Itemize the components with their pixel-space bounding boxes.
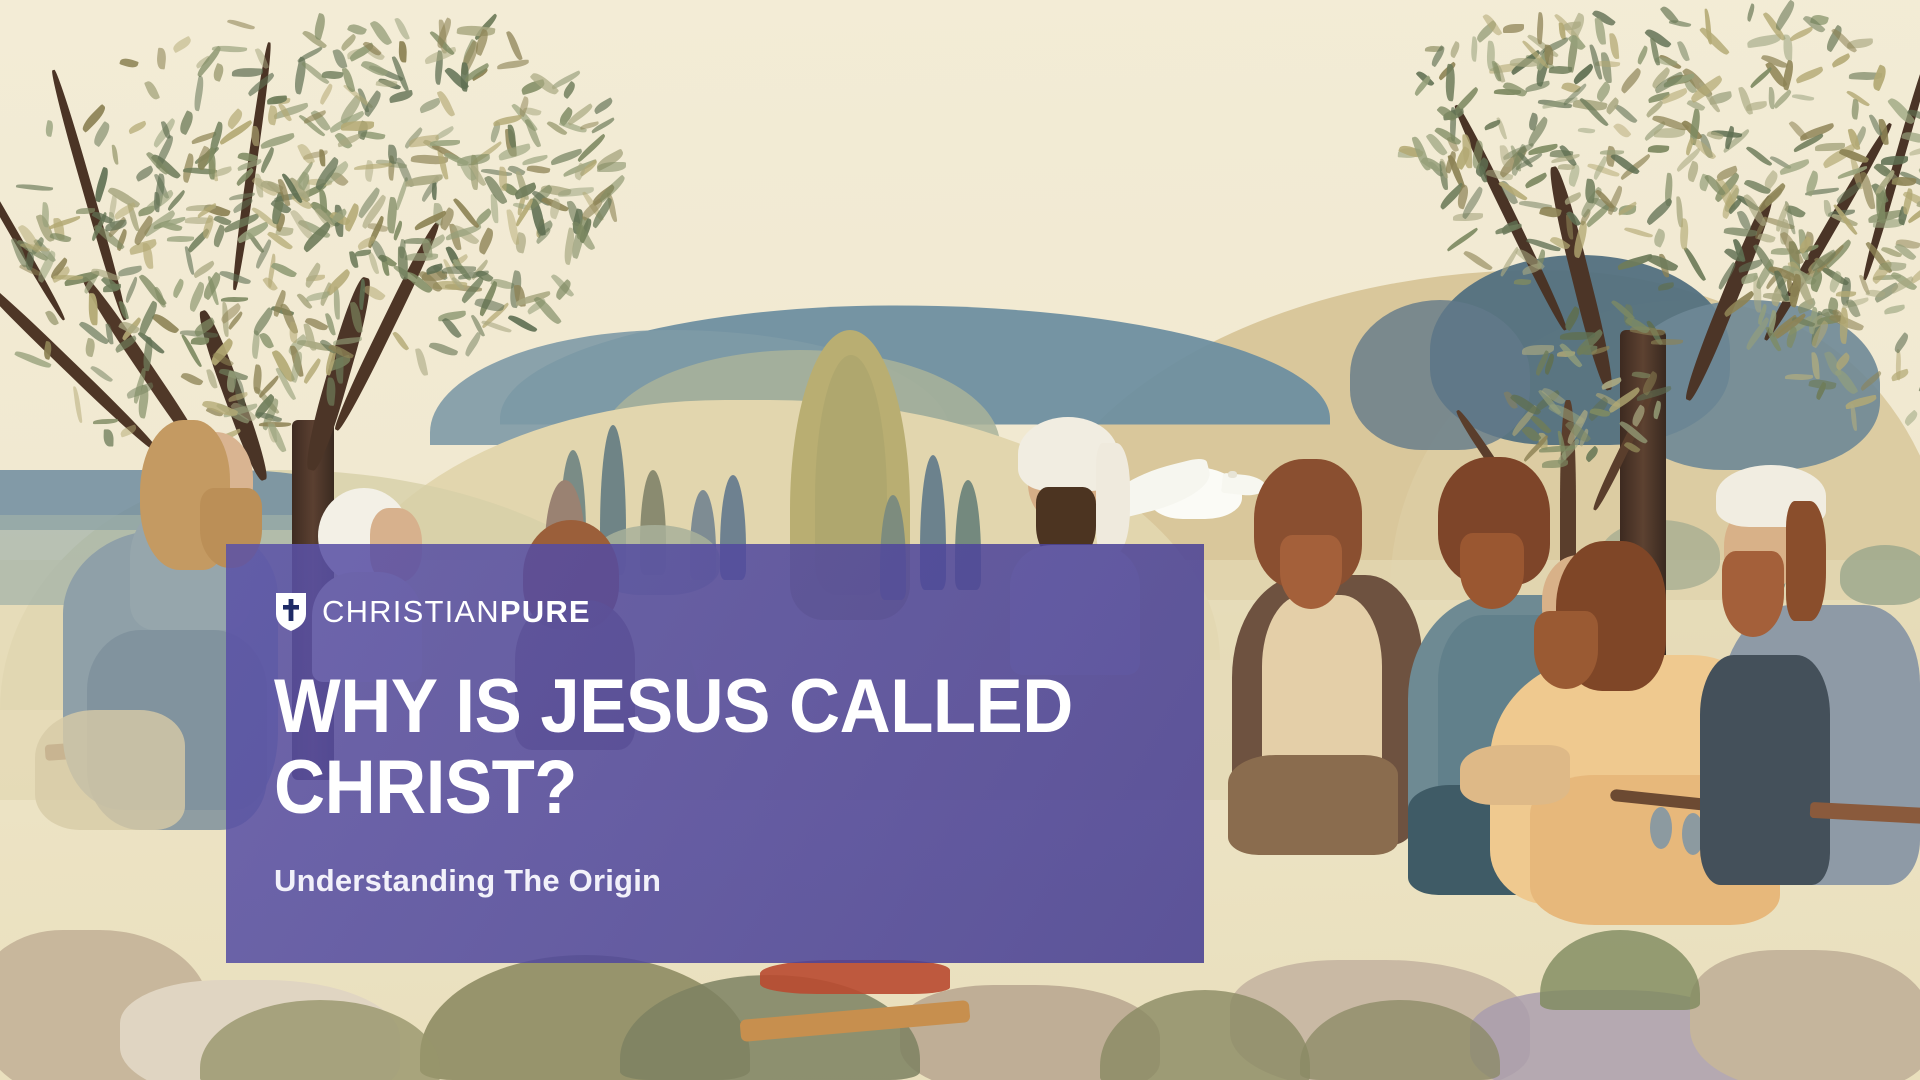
olive-leaf bbox=[333, 48, 348, 70]
canopy-blue bbox=[1350, 300, 1530, 450]
brand-wordmark: CHRISTIANPURE bbox=[322, 596, 591, 627]
olive-leaf bbox=[428, 339, 457, 358]
olive-leaf bbox=[481, 319, 511, 335]
olive-leaf bbox=[44, 119, 54, 136]
olive-leaf bbox=[1612, 121, 1631, 141]
olive-leaf bbox=[92, 167, 110, 202]
olive-leaf bbox=[49, 231, 71, 244]
olive-leaf bbox=[527, 163, 551, 174]
olive-leaf bbox=[1746, 144, 1773, 168]
olive-leaf bbox=[506, 30, 523, 61]
olive-leaf bbox=[1593, 82, 1612, 103]
title-overlay-card: CHRISTIANPURE Why Is Jesus Called Christ… bbox=[226, 544, 1204, 963]
olive-leaf bbox=[134, 165, 155, 182]
olive-leaf bbox=[398, 246, 408, 279]
olive-leaf bbox=[497, 59, 530, 70]
olive-leaf bbox=[318, 83, 335, 105]
poster-canvas: CHRISTIANPURE Why Is Jesus Called Christ… bbox=[0, 0, 1920, 1080]
olive-leaf bbox=[15, 183, 53, 193]
brand-logo[interactable]: CHRISTIANPURE bbox=[274, 590, 1204, 632]
olive-leaf bbox=[88, 293, 97, 325]
figure-right-4-seated bbox=[1690, 455, 1920, 895]
olive-leaf bbox=[306, 291, 330, 301]
olive-leaf bbox=[112, 145, 119, 165]
page-title: Why Is Jesus Called Christ? bbox=[274, 666, 1092, 829]
olive-leaf bbox=[1643, 198, 1675, 226]
olive-leaf bbox=[1749, 66, 1774, 88]
olive-leaf bbox=[1624, 226, 1653, 240]
olive-leaf bbox=[1677, 40, 1690, 62]
olive-leaf bbox=[1448, 41, 1462, 59]
olive-leaf bbox=[418, 97, 442, 113]
olive-leaf bbox=[498, 167, 507, 191]
brand-part-2: PURE bbox=[500, 594, 591, 629]
olive-leaf bbox=[1699, 24, 1730, 57]
olive-leaf bbox=[1772, 89, 1793, 109]
olive-leaf bbox=[1577, 126, 1594, 134]
olive-leaf bbox=[124, 276, 140, 303]
olive-leaf bbox=[259, 147, 277, 174]
olive-leaf bbox=[167, 235, 194, 242]
olive-leaf bbox=[260, 133, 296, 149]
olive-leaf bbox=[1647, 144, 1669, 154]
olive-leaf bbox=[1679, 219, 1690, 250]
olive-leaf bbox=[193, 76, 206, 112]
olive-leaf bbox=[462, 332, 482, 357]
olive-leaf bbox=[250, 307, 275, 336]
olive-leaf bbox=[398, 41, 407, 62]
olive-leaf bbox=[1746, 3, 1757, 22]
olive-leaf bbox=[592, 97, 614, 114]
olive-leaf bbox=[453, 196, 479, 229]
olive-leaf bbox=[1870, 65, 1889, 92]
olive-leaf bbox=[1523, 172, 1548, 188]
olive-leaf bbox=[84, 337, 97, 357]
olive-leaf bbox=[312, 13, 328, 40]
olive-leaf bbox=[171, 278, 186, 298]
olive-leaf bbox=[118, 301, 129, 321]
olive-leaf bbox=[251, 364, 263, 394]
olive-leaf bbox=[1772, 0, 1797, 31]
olive-leaf bbox=[144, 80, 160, 102]
olive-leaf bbox=[301, 357, 322, 383]
olive-leaf bbox=[171, 36, 193, 53]
olive-leaf bbox=[271, 260, 297, 280]
olive-leaf bbox=[415, 347, 428, 376]
olive-leaf bbox=[1823, 200, 1831, 217]
olive-leaf bbox=[360, 58, 388, 79]
olive-leaf bbox=[1644, 26, 1672, 51]
olive-leaf bbox=[232, 67, 264, 77]
olive-leaf bbox=[392, 331, 408, 352]
olive-leaf bbox=[339, 33, 358, 51]
olive-leaf bbox=[1445, 227, 1479, 252]
olive-leaf bbox=[1636, 45, 1650, 65]
olive-leaf bbox=[1909, 144, 1920, 156]
olive-leaf bbox=[1892, 332, 1911, 353]
olive-leaf bbox=[597, 162, 626, 172]
brand-part-1: CHRISTIAN bbox=[322, 594, 500, 629]
olive-leaf bbox=[1503, 24, 1524, 33]
olive-leaf bbox=[1536, 12, 1545, 45]
olive-leaf bbox=[1684, 246, 1707, 282]
olive-leaf bbox=[1836, 290, 1857, 298]
olive-leaf bbox=[1831, 53, 1852, 68]
olive-leaf bbox=[1668, 19, 1690, 30]
olive-leaf bbox=[1463, 249, 1493, 274]
olive-leaf bbox=[1738, 85, 1753, 116]
olive-leaf bbox=[1881, 156, 1908, 165]
olive-leaf bbox=[394, 16, 410, 41]
red-cloth bbox=[760, 960, 950, 994]
olive-leaf bbox=[1661, 88, 1689, 104]
olive-leaf bbox=[1917, 153, 1920, 173]
olive-leaf bbox=[319, 150, 325, 167]
olive-leaf bbox=[1608, 33, 1619, 60]
shield-cross-icon bbox=[274, 590, 308, 632]
olive-leaf bbox=[1884, 305, 1906, 315]
olive-leaf bbox=[177, 110, 196, 135]
olive-leaf bbox=[1792, 93, 1815, 103]
olive-leaf bbox=[430, 139, 460, 145]
olive-leaf bbox=[405, 252, 438, 262]
olive-leaf bbox=[342, 67, 356, 93]
olive-leaf bbox=[1601, 52, 1612, 83]
olive-leaf bbox=[1850, 99, 1859, 120]
olive-leaf bbox=[1788, 119, 1807, 141]
olive-leaf bbox=[119, 57, 139, 70]
olive-leaf bbox=[1549, 65, 1572, 75]
olive-leaf bbox=[1902, 409, 1919, 425]
olive-leaf bbox=[212, 63, 226, 82]
olive-leaf bbox=[227, 17, 255, 31]
olive-leaf bbox=[155, 48, 167, 70]
foreground-rock bbox=[1690, 950, 1920, 1080]
olive-leaf bbox=[1618, 67, 1644, 94]
olive-leaf bbox=[1789, 26, 1814, 41]
foreground-grass bbox=[1540, 930, 1700, 1010]
olive-leaf bbox=[152, 311, 180, 336]
olive-leaf bbox=[522, 155, 549, 166]
olive-leaf bbox=[1890, 369, 1910, 382]
olive-leaf bbox=[507, 313, 537, 336]
page-subtitle: Understanding The Origin bbox=[274, 863, 1204, 899]
olive-leaf bbox=[437, 89, 456, 118]
olive-leaf bbox=[266, 253, 278, 287]
olive-leaf bbox=[1795, 66, 1825, 83]
olive-leaf bbox=[128, 121, 148, 135]
olive-leaf bbox=[1571, 63, 1596, 85]
olive-leaf bbox=[508, 124, 516, 148]
olive-leaf bbox=[259, 331, 274, 350]
olive-leaf bbox=[1445, 64, 1457, 102]
olive-leaf bbox=[1651, 228, 1667, 248]
olive-leaf bbox=[389, 90, 414, 103]
olive-leaf bbox=[1499, 145, 1509, 168]
olive-leaf bbox=[213, 166, 233, 177]
olive-leaf bbox=[181, 370, 204, 388]
olive-leaf bbox=[341, 120, 374, 130]
